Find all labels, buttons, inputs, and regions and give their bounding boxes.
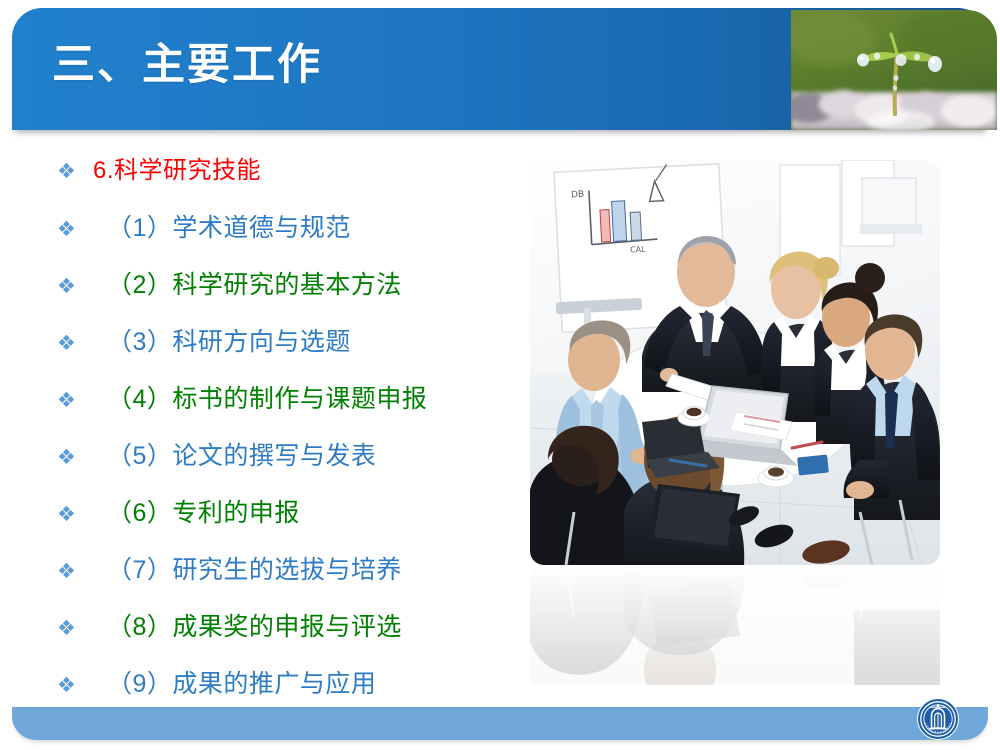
meeting-photo: DB CAL (530, 160, 940, 565)
list-item: ❖（7）研究生的选拔与培养 (55, 557, 525, 614)
page-title: 三、主要工作 (52, 44, 322, 87)
list-item: ❖（2）科学研究的基本方法 (55, 272, 525, 329)
slide-canvas: 三、主要工作 (0, 0, 1000, 750)
diamond-bullet-icon: ❖ (55, 161, 93, 182)
svg-text:DB: DB (571, 190, 585, 201)
meeting-photo-reflection (530, 565, 940, 685)
list-item: ❖（1）学术道德与规范 (55, 215, 525, 272)
list-item: ❖（3）科研方向与选题 (55, 329, 525, 386)
slide-header: 三、主要工作 (12, 8, 988, 130)
diamond-bullet-icon: ❖ (55, 390, 93, 411)
list-item-label: （3）科研方向与选题 (93, 329, 351, 355)
diamond-bullet-icon: ❖ (55, 504, 93, 525)
diamond-bullet-icon: ❖ (55, 333, 93, 354)
list-item-label: （9）成果的推广与应用 (93, 671, 376, 697)
list-item-label: （7）研究生的选拔与培养 (93, 557, 402, 583)
university-emblem-logo[interactable] (916, 697, 960, 741)
list-item-label: （2）科学研究的基本方法 (93, 272, 402, 298)
list-item: ❖（6）专利的申报 (55, 500, 525, 557)
bullet-list: ❖6.科学研究技能❖（1）学术道德与规范❖（2）科学研究的基本方法❖（3）科研方… (55, 158, 525, 728)
list-item-label: （6）专利的申报 (93, 500, 300, 526)
list-item-label: （8）成果奖的申报与评选 (93, 614, 402, 640)
diamond-bullet-icon: ❖ (55, 675, 93, 696)
list-item-label: （4）标书的制作与课题申报 (93, 386, 427, 412)
list-item-label: （1）学术道德与规范 (93, 215, 351, 241)
list-item: ❖（4）标书的制作与课题申报 (55, 386, 525, 443)
list-item-label: 6.科学研究技能 (93, 158, 261, 183)
list-item: ❖6.科学研究技能 (55, 158, 525, 215)
list-item-label: （5）论文的撰写与发表 (93, 443, 376, 469)
list-item: ❖（8）成果奖的申报与评选 (55, 614, 525, 671)
diamond-bullet-icon: ❖ (55, 561, 93, 582)
footer-bar (12, 707, 988, 740)
svg-text:CAL: CAL (630, 245, 647, 255)
diamond-bullet-icon: ❖ (55, 618, 93, 639)
diamond-bullet-icon: ❖ (55, 276, 93, 297)
list-item: ❖（5）论文的撰写与发表 (55, 443, 525, 500)
diamond-bullet-icon: ❖ (55, 447, 93, 468)
diamond-bullet-icon: ❖ (55, 219, 93, 240)
seedling-photo (791, 10, 997, 130)
